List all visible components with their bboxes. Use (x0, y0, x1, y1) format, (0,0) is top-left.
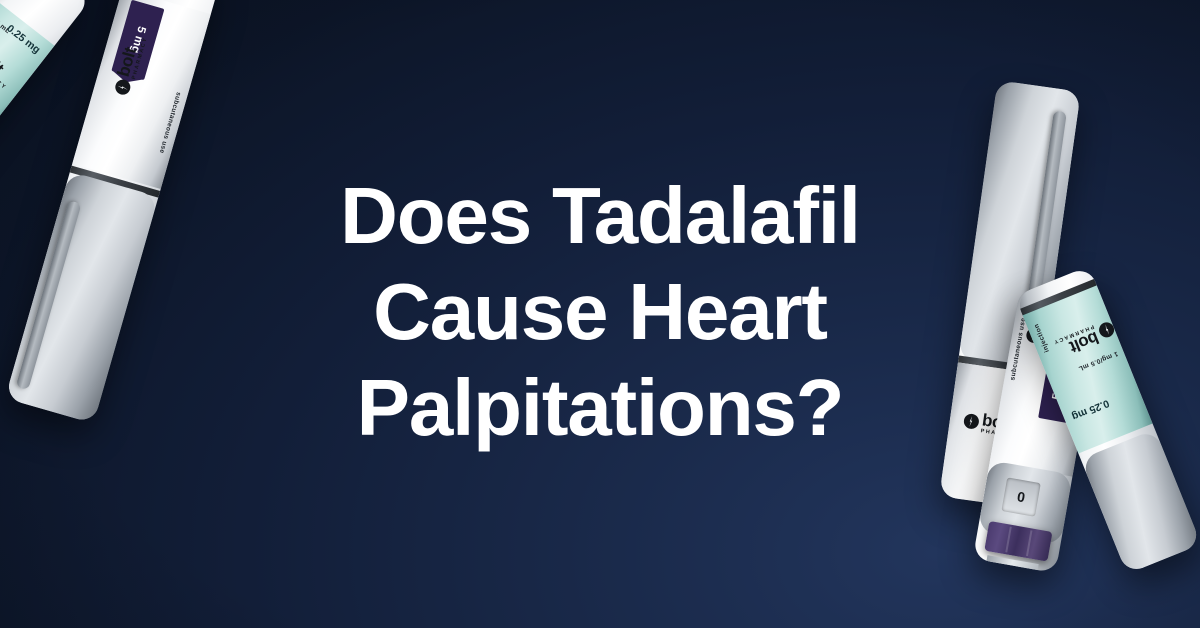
headline-block: Does Tadalafil Cause Heart Palpitations? (0, 168, 1200, 456)
pen-dose-window-value: 0 (1016, 489, 1026, 506)
headline-line-2: Cause Heart (250, 264, 950, 360)
pen-dose-window: 0 (1001, 477, 1040, 516)
headline-line-3: Palpitations? (250, 360, 950, 456)
headline-line-1: Does Tadalafil (250, 168, 950, 264)
promo-banner: bolt PHARMACY 0.25 mg 1 mg/0.5 mL inject… (0, 0, 1200, 628)
